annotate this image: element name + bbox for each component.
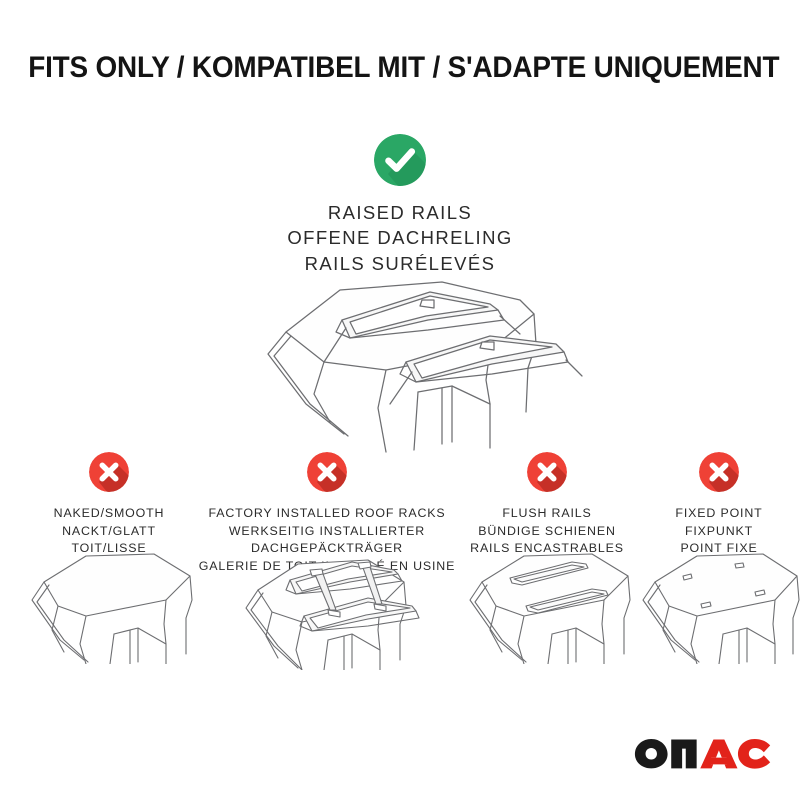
car-roof-with-fixed-points-illustration <box>629 544 800 669</box>
page-title: FITS ONLY / KOMPATIBEL MIT / S'ADAPTE UN… <box>28 52 779 84</box>
incompatible-label-line: FLUSH RAILS <box>452 505 642 523</box>
car-roof-bare-illustration <box>14 544 204 669</box>
compatible-label-line: RAILS SURÉLEVÉS <box>0 251 800 276</box>
car-roof-with-factory-crossbars-illustration <box>222 540 432 675</box>
compatible-label-line: OFFENE DACHRELING <box>0 225 800 250</box>
incompatible-label-line: FIXED POINT <box>638 505 800 523</box>
x-circle-icon <box>89 452 129 492</box>
incompatible-label-line: NACKT/GLATT <box>14 523 204 541</box>
compatible-label-line: RAISED RAILS <box>0 200 800 225</box>
x-circle-icon <box>307 452 347 492</box>
incompatible-section: NAKED/SMOOTH NACKT/GLATT TOIT/LISSE <box>0 452 800 702</box>
car-roof-with-raised-rails-illustration <box>190 276 610 456</box>
compatible-labels: RAISED RAILS OFFENE DACHRELING RAILS SUR… <box>0 200 800 276</box>
incompatible-label-line: FACTORY INSTALLED ROOF RACKS <box>198 505 456 523</box>
compatible-section: RAISED RAILS OFFENE DACHRELING RAILS SUR… <box>0 134 800 276</box>
omac-logo: OMAC <box>634 736 772 770</box>
incompatible-item-naked: NAKED/SMOOTH NACKT/GLATT TOIT/LISSE <box>14 452 204 558</box>
incompatible-label-line: WERKSEITIG INSTALLIERTER <box>198 523 456 541</box>
car-roof-with-flush-rails-illustration <box>452 544 642 669</box>
x-circle-icon <box>527 452 567 492</box>
incompatible-item-fixed-point: FIXED POINT FIXPUNKT POINT FIXE <box>638 452 800 558</box>
incompatible-item-factory-racks: FACTORY INSTALLED ROOF RACKS WERKSEITIG … <box>198 452 456 575</box>
check-circle-icon <box>374 134 426 186</box>
incompatible-label-line: FIXPUNKT <box>638 523 800 541</box>
incompatible-label-line: NAKED/SMOOTH <box>14 505 204 523</box>
x-circle-icon <box>699 452 739 492</box>
incompatible-item-flush-rails: FLUSH RAILS BÜNDIGE SCHIENEN RAILS ENCAS… <box>452 452 642 558</box>
header: FITS ONLY / KOMPATIBEL MIT / S'ADAPTE UN… <box>0 52 800 84</box>
incompatible-label-line: BÜNDIGE SCHIENEN <box>452 523 642 541</box>
